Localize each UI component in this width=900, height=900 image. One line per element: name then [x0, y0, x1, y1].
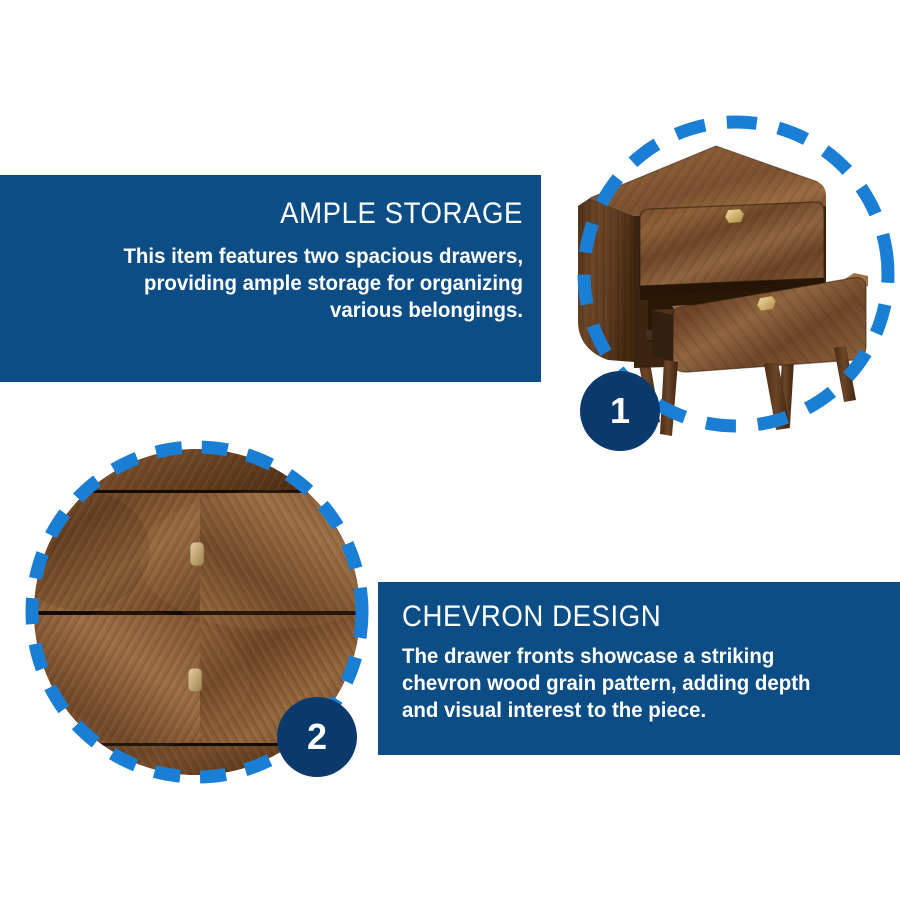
infographic-canvas: AMPLE STORAGE This item features two spa…	[0, 0, 900, 900]
drawer-knob-icon	[190, 542, 204, 566]
feature-2-body-line-2: chevron wood grain pattern, adding depth	[402, 670, 875, 697]
drawer-knob-icon	[188, 668, 202, 692]
feature-1-title: AMPLE STORAGE	[42, 197, 523, 231]
feature-2-body-line-1: The drawer fronts showcase a striking	[402, 643, 875, 670]
feature-2-panel: CHEVRON DESIGN The drawer fronts showcas…	[378, 582, 900, 755]
feature-1-body-line-1: This item features two spacious drawers,	[26, 243, 523, 270]
feature-1-body-line-3: various belongings.	[26, 297, 523, 324]
feature-1-number: 1	[610, 393, 630, 429]
feature-2-number: 2	[307, 719, 327, 755]
feature-2-number-badge: 2	[277, 697, 357, 777]
feature-1-panel: AMPLE STORAGE This item features two spa…	[0, 175, 541, 382]
feature-2-title: CHEVRON DESIGN	[402, 600, 860, 634]
feature-1-body-line-2: providing ample storage for organizing	[26, 270, 523, 297]
feature-1-number-badge: 1	[580, 371, 660, 451]
feature-2-body-line-3: and visual interest to the piece.	[402, 697, 875, 724]
